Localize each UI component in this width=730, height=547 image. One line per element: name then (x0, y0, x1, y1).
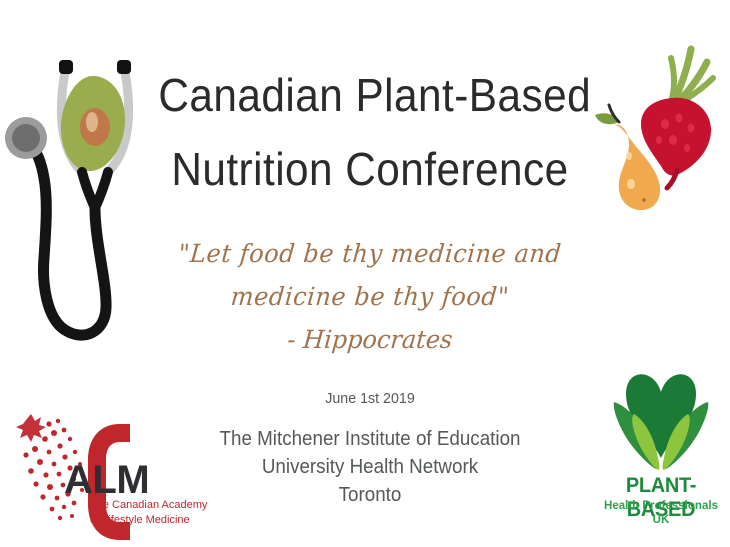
title-line-2: Nutrition Conference (158, 132, 581, 206)
plant-heart-leaves-icon (606, 362, 716, 474)
plant-based-health-professionals-logo: PLANT-BASED Health Professionals UK (592, 362, 730, 522)
quote-line-1: "Let food be thy medicine and (171, 232, 568, 275)
produce-illustration-group (583, 32, 730, 222)
hippocrates-quote: "Let food be thy medicine and medicine b… (165, 232, 575, 361)
calm-tagline-line-1: The Canadian Academy (90, 498, 207, 513)
quote-line-2: medicine be thy food" (171, 275, 568, 318)
calm-logo: ALM The Canadian Academy of Lifestyle Me… (2, 408, 214, 544)
title-line-1: Canadian Plant-Based (158, 58, 581, 132)
calm-tagline: The Canadian Academy of Lifestyle Medici… (90, 498, 207, 528)
calm-letters-alm: ALM (64, 460, 149, 500)
event-date: June 1st 2019 (194, 390, 546, 408)
venue-line-3: Toronto (196, 481, 544, 509)
venue-line-1: The Mitchener Institute of Education (196, 425, 544, 453)
calm-tagline-line-2: of Lifestyle Medicine (90, 513, 207, 528)
plant-based-subtitle: Health Professionals UK (595, 498, 727, 526)
conference-poster: Canadian Plant-Based Nutrition Conferenc… (0, 0, 730, 547)
event-venue: The Mitchener Institute of Education Uni… (185, 425, 555, 509)
event-details: June 1st 2019 The Mitchener Institute of… (185, 390, 555, 509)
quote-attribution: - Hippocrates (171, 318, 568, 361)
venue-line-2: University Health Network (196, 453, 544, 481)
poster-title: Canadian Plant-Based Nutrition Conferenc… (140, 58, 600, 206)
beet-greens (671, 49, 713, 104)
